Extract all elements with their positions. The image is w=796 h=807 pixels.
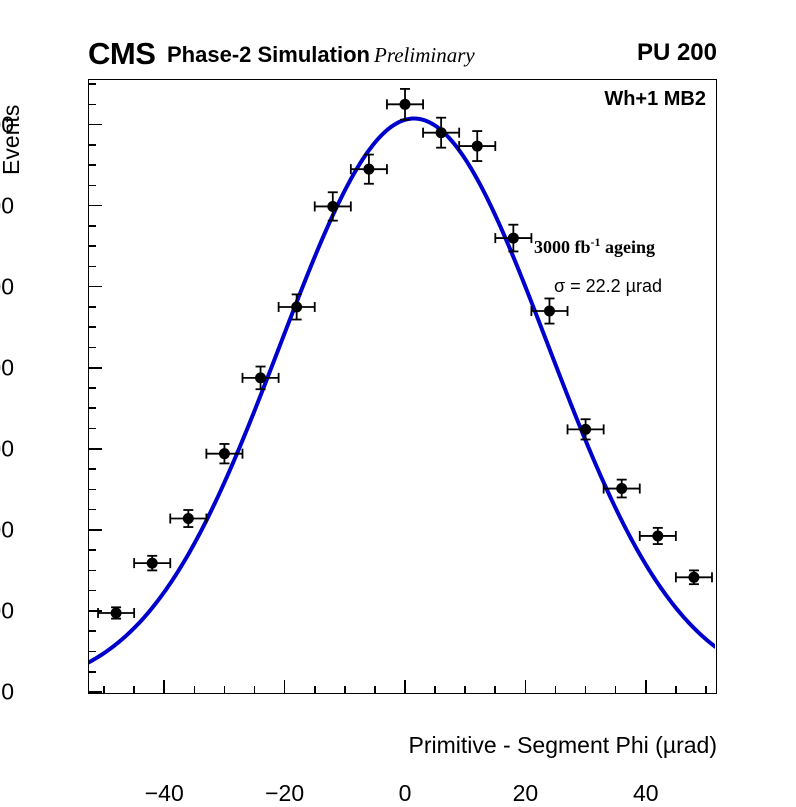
x-tick-label: 40 xyxy=(633,780,659,807)
y-tick-minor xyxy=(89,104,96,106)
x-tick-minor xyxy=(224,686,226,693)
data-point-marker xyxy=(472,141,483,152)
y-tick-major xyxy=(89,529,102,531)
x-tick-major xyxy=(645,680,647,693)
gaussian-fit-curve xyxy=(89,119,715,663)
y-tick-minor xyxy=(89,549,96,551)
data-points-group xyxy=(98,89,712,619)
y-tick-minor xyxy=(89,83,96,85)
data-point xyxy=(676,570,712,584)
data-point-marker xyxy=(544,306,555,317)
data-point-marker xyxy=(580,424,591,435)
x-tick-label: −40 xyxy=(145,780,184,807)
x-tick-minor xyxy=(464,686,466,693)
plot-header: CMS Phase-2 Simulation Preliminary PU 20… xyxy=(88,38,717,72)
y-tick-label: 1400 xyxy=(0,111,14,138)
data-point-marker xyxy=(436,127,447,138)
x-tick-minor xyxy=(555,686,557,693)
x-tick-minor xyxy=(103,686,105,693)
data-point-marker xyxy=(327,201,338,212)
preliminary-label: Preliminary xyxy=(374,43,475,68)
y-tick-minor xyxy=(89,509,96,511)
y-tick-minor xyxy=(89,306,96,308)
x-tick-minor xyxy=(494,686,496,693)
y-tick-major xyxy=(89,691,102,693)
y-tick-minor xyxy=(89,144,96,146)
y-tick-minor xyxy=(89,245,96,247)
cms-logo-text: CMS xyxy=(88,36,155,72)
ageing-word: ageing xyxy=(601,237,656,257)
y-tick-label: 0 xyxy=(1,679,14,706)
x-tick-major xyxy=(525,680,527,693)
x-tick-major xyxy=(163,680,165,693)
data-point-marker xyxy=(255,372,266,383)
data-point-marker xyxy=(111,607,122,618)
ageing-exponent: -1 xyxy=(591,235,601,249)
x-tick-label: 0 xyxy=(399,780,412,807)
data-point xyxy=(206,444,242,463)
y-tick-label: 400 xyxy=(0,516,14,543)
x-axis-title: Primitive - Segment Phi (µrad) xyxy=(408,732,717,759)
x-tick-minor xyxy=(314,686,316,693)
y-tick-minor xyxy=(89,570,96,572)
data-point xyxy=(98,607,134,618)
y-tick-label: 200 xyxy=(0,597,14,624)
y-tick-major xyxy=(89,124,102,126)
x-tick-minor xyxy=(705,686,707,693)
data-point xyxy=(134,556,170,571)
x-tick-minor xyxy=(344,686,346,693)
data-point xyxy=(351,155,387,184)
y-tick-major xyxy=(89,367,102,369)
x-tick-minor xyxy=(194,686,196,693)
y-tick-minor xyxy=(89,489,96,491)
x-tick-label: 20 xyxy=(513,780,539,807)
y-tick-minor xyxy=(89,225,96,227)
data-point-marker xyxy=(291,301,302,312)
y-tick-minor xyxy=(89,671,96,673)
data-point-marker xyxy=(219,448,230,459)
x-tick-minor xyxy=(434,686,436,693)
y-tick-label: 1200 xyxy=(0,192,14,219)
simulation-label: Phase-2 Simulation xyxy=(167,42,370,68)
data-point-marker xyxy=(616,483,627,494)
plot-frame: Wh+1 MB2 3000 fb-1 ageing σ = 22.2 µrad … xyxy=(88,79,717,694)
y-tick-minor xyxy=(89,347,96,349)
x-tick-minor xyxy=(675,686,677,693)
data-point-marker xyxy=(183,513,194,524)
data-layer xyxy=(89,80,715,692)
x-tick-label: −20 xyxy=(265,780,304,807)
plot-canvas: CMS Phase-2 Simulation Preliminary PU 20… xyxy=(0,0,796,772)
y-tick-label: 800 xyxy=(0,354,14,381)
y-tick-minor xyxy=(89,651,96,653)
y-tick-minor xyxy=(89,164,96,166)
y-tick-major xyxy=(89,610,102,612)
data-point-marker xyxy=(652,530,663,541)
data-point xyxy=(170,510,206,527)
y-tick-minor xyxy=(89,428,96,430)
data-point-marker xyxy=(400,99,411,110)
y-tick-minor xyxy=(89,185,96,187)
y-tick-major xyxy=(89,205,102,207)
x-tick-minor xyxy=(254,686,256,693)
ageing-lumi: 3000 fb xyxy=(534,237,591,257)
y-tick-minor xyxy=(89,630,96,632)
y-tick-label: 1000 xyxy=(0,273,14,300)
y-tick-major xyxy=(89,448,102,450)
data-point-marker xyxy=(363,164,374,175)
data-point xyxy=(242,367,278,390)
x-tick-minor xyxy=(585,686,587,693)
x-tick-major xyxy=(404,680,406,693)
x-tick-minor xyxy=(615,686,617,693)
y-tick-minor xyxy=(89,387,96,389)
data-point xyxy=(387,89,423,120)
x-tick-major xyxy=(284,680,286,693)
y-tick-minor xyxy=(89,266,96,268)
data-point-marker xyxy=(688,572,699,583)
data-point-marker xyxy=(508,233,519,244)
ageing-annotation: 3000 fb-1 ageing xyxy=(534,235,655,258)
data-point-marker xyxy=(147,558,158,569)
y-tick-label: 600 xyxy=(0,435,14,462)
data-point xyxy=(568,419,604,439)
data-point xyxy=(279,294,315,319)
y-tick-minor xyxy=(89,326,96,328)
region-label: Wh+1 MB2 xyxy=(604,88,706,111)
y-tick-minor xyxy=(89,468,96,470)
x-tick-minor xyxy=(374,686,376,693)
data-point xyxy=(315,192,351,220)
x-tick-minor xyxy=(133,686,135,693)
y-tick-major xyxy=(89,286,102,288)
y-tick-minor xyxy=(89,590,96,592)
pileup-label: PU 200 xyxy=(637,39,717,67)
data-point xyxy=(640,528,676,544)
y-tick-minor xyxy=(89,407,96,409)
sigma-annotation: σ = 22.2 µrad xyxy=(554,276,662,297)
